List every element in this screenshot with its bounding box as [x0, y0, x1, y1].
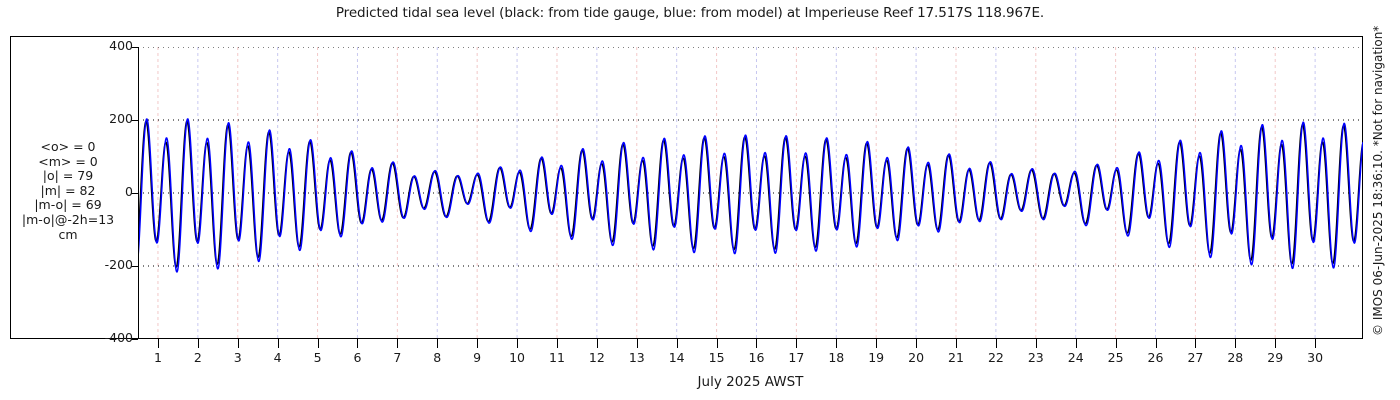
- x-tick-mark: [597, 339, 598, 348]
- x-tick-mark: [836, 339, 837, 348]
- tidal-series-svg: [138, 47, 1363, 339]
- x-tick-mark: [198, 339, 199, 348]
- x-tick-mark: [916, 339, 917, 348]
- x-axis-title: July 2025 AWST: [138, 374, 1363, 390]
- x-tick-label: 23: [1028, 352, 1044, 365]
- x-tick-label: 16: [749, 352, 765, 365]
- x-tick-label: 6: [353, 352, 361, 365]
- statistics-line: cm: [0, 228, 136, 243]
- x-tick-label: 29: [1267, 352, 1283, 365]
- copyright-credit-text: © IMOS 06-Jun-2025 18:36:10. *Not for na…: [1371, 26, 1385, 336]
- x-tick-mark: [557, 339, 558, 348]
- x-tick-label: 30: [1307, 352, 1323, 365]
- x-tick-mark: [318, 339, 319, 348]
- x-tick-label: 3: [234, 352, 242, 365]
- x-tick-label: 2: [194, 352, 202, 365]
- page-title: Predicted tidal sea level (black: from t…: [0, 5, 1380, 21]
- x-tick-label: 12: [589, 352, 605, 365]
- x-tick-label: 28: [1227, 352, 1243, 365]
- x-tick-label: 19: [868, 352, 884, 365]
- x-tick-mark: [278, 339, 279, 348]
- y-axis-line: [138, 47, 139, 339]
- y-tick-label: 200: [109, 113, 133, 126]
- x-tick-mark: [437, 339, 438, 348]
- x-tick-label: 8: [433, 352, 441, 365]
- y-tick-label: 400: [109, 40, 133, 53]
- x-tick-mark: [717, 339, 718, 348]
- x-tick-label: 26: [1148, 352, 1164, 365]
- x-tick-mark: [1156, 339, 1157, 348]
- x-tick-mark: [756, 339, 757, 348]
- x-tick-label: 15: [709, 352, 725, 365]
- x-tick-label: 7: [393, 352, 401, 365]
- x-tick-mark: [1235, 339, 1236, 348]
- x-tick-mark: [996, 339, 997, 348]
- x-tick-mark: [876, 339, 877, 348]
- statistics-line: |o| = 79: [0, 169, 136, 184]
- statistics-line: <o> = 0: [0, 140, 136, 155]
- x-tick-mark: [1036, 339, 1037, 348]
- x-tick-label: 22: [988, 352, 1004, 365]
- x-tick-label: 21: [948, 352, 964, 365]
- x-tick-label: 25: [1108, 352, 1124, 365]
- statistics-line: |m-o| = 69: [0, 198, 136, 213]
- y-tick-label: -400: [105, 332, 133, 345]
- x-tick-label: 9: [473, 352, 481, 365]
- x-tick-label: 14: [669, 352, 685, 365]
- x-tick-label: 5: [314, 352, 322, 365]
- x-tick-label: 27: [1187, 352, 1203, 365]
- statistics-line: |m| = 82: [0, 184, 136, 199]
- x-tick-label: 17: [788, 352, 804, 365]
- x-tick-mark: [397, 339, 398, 348]
- x-tick-label: 24: [1068, 352, 1084, 365]
- x-tick-mark: [956, 339, 957, 348]
- x-tick-mark: [1076, 339, 1077, 348]
- plot-area: [138, 47, 1363, 339]
- x-tick-mark: [517, 339, 518, 348]
- x-tick-label: 11: [549, 352, 565, 365]
- x-tick-mark: [238, 339, 239, 348]
- x-tick-label: 18: [828, 352, 844, 365]
- x-tick-mark: [1116, 339, 1117, 348]
- x-tick-mark: [1195, 339, 1196, 348]
- x-tick-mark: [477, 339, 478, 348]
- x-tick-mark: [637, 339, 638, 348]
- x-tick-label: 13: [629, 352, 645, 365]
- x-tick-mark: [158, 339, 159, 348]
- statistics-line: |m-o|@-2h=13: [0, 213, 136, 228]
- x-tick-mark: [1315, 339, 1316, 348]
- x-tick-mark: [357, 339, 358, 348]
- x-tick-mark: [796, 339, 797, 348]
- x-tick-label: 20: [908, 352, 924, 365]
- x-tick-mark: [677, 339, 678, 348]
- copyright-credit: © IMOS 06-Jun-2025 18:36:10. *Not for na…: [1380, 0, 1400, 340]
- statistics-text-block: <o> = 0<m> = 0|o| = 79|m| = 82|m-o| = 69…: [0, 140, 136, 242]
- statistics-line: <m> = 0: [0, 155, 136, 170]
- y-tick-label: -200: [105, 259, 133, 272]
- x-tick-label: 1: [154, 352, 162, 365]
- x-tick-label: 4: [274, 352, 282, 365]
- tidal-chart-page: Predicted tidal sea level (black: from t…: [0, 0, 1400, 400]
- x-tick-label: 10: [509, 352, 525, 365]
- x-tick-mark: [1275, 339, 1276, 348]
